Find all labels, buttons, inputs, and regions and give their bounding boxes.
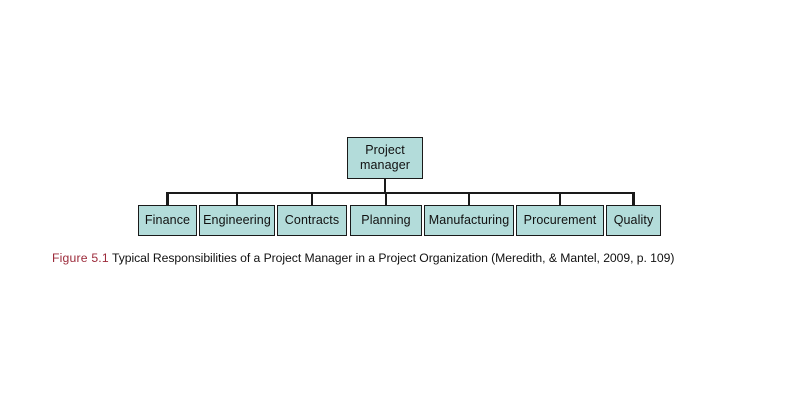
org-node-finance[interactable]: Finance [138, 205, 197, 236]
connector-drop-6 [632, 192, 634, 206]
connector-drop-3 [385, 192, 387, 206]
figure-caption-label: Figure 5.1 [52, 251, 109, 265]
org-node-quality[interactable]: Quality [606, 205, 661, 236]
org-node-manufacturing[interactable]: Manufacturing [424, 205, 514, 236]
connector-drop-1 [236, 192, 238, 206]
org-node-planning[interactable]: Planning [350, 205, 422, 236]
figure-caption: Figure 5.1 Typical Responsibilities of a… [52, 250, 752, 266]
connector-drop-4 [468, 192, 470, 206]
figure-canvas: Project manager FinanceEngineeringContra… [0, 0, 800, 400]
figure-caption-text: Typical Responsibilities of a Project Ma… [109, 251, 675, 265]
connector-drop-2 [311, 192, 313, 206]
org-node-procurement[interactable]: Procurement [516, 205, 604, 236]
connector-drop-0 [166, 192, 168, 206]
org-node-contracts[interactable]: Contracts [277, 205, 347, 236]
connector-drop-5 [559, 192, 561, 206]
org-node-engineering[interactable]: Engineering [199, 205, 275, 236]
org-node-project-manager[interactable]: Project manager [347, 137, 423, 179]
